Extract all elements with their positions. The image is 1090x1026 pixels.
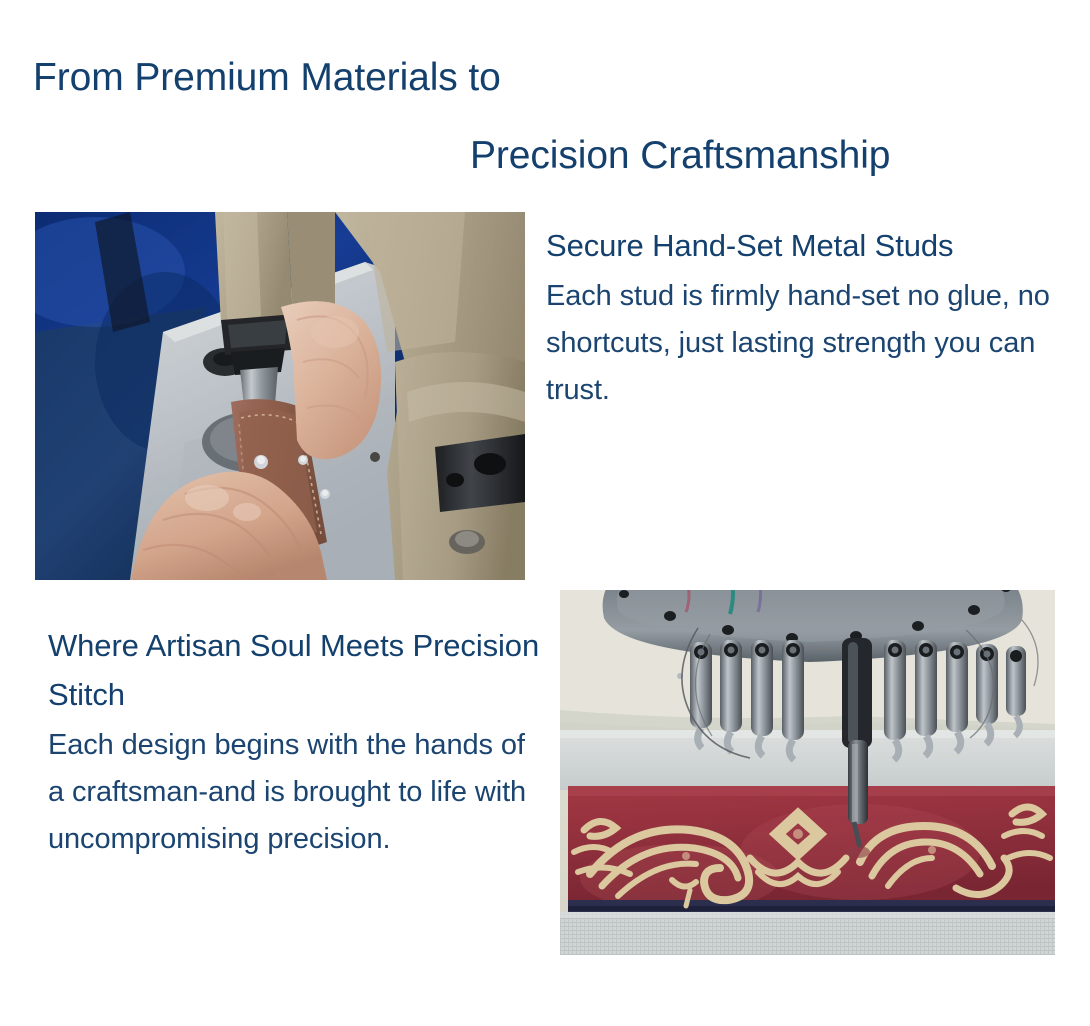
feature-body-hand-set-studs: Each stud is firmly hand-set no glue, no…: [546, 273, 1056, 414]
feature-image-hand-set-studs: [35, 212, 525, 580]
feature-title-hand-set-studs: Secure Hand-Set Metal Studs: [546, 222, 1056, 271]
craftsmanship-section: From Premium Materials to Precision Craf…: [0, 0, 1090, 1026]
feature-block-precision-stitch: Where Artisan Soul Meets Precision Stitc…: [48, 622, 548, 863]
feature-image-precision-stitch: [560, 590, 1055, 955]
page-title-line-1: From Premium Materials to: [33, 56, 501, 101]
feature-title-precision-stitch: Where Artisan Soul Meets Precision Stitc…: [48, 622, 548, 720]
page-title-line-2: Precision Craftsmanship: [470, 134, 890, 179]
feature-body-precision-stitch: Each design begins with the hands of a c…: [48, 722, 548, 863]
feature-block-hand-set-studs: Secure Hand-Set Metal Studs Each stud is…: [546, 222, 1056, 414]
